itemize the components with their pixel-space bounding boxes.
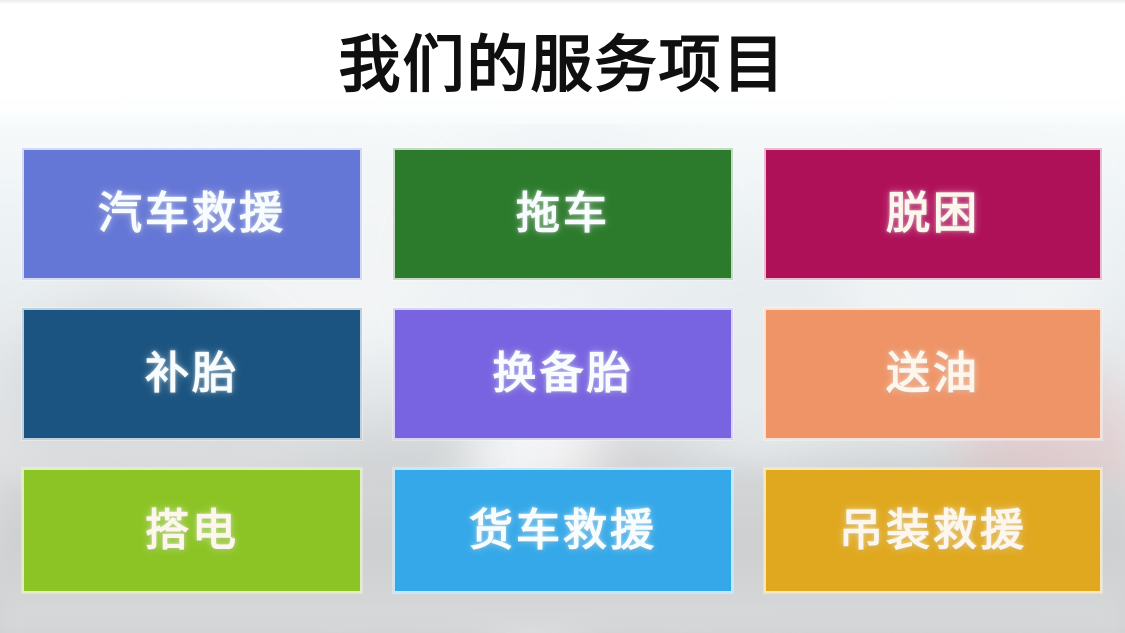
service-tile-label: 补胎 — [145, 352, 239, 396]
poster-header: 我们的服务项目 — [0, 0, 1125, 124]
service-tile-label: 吊装救援 — [839, 509, 1027, 553]
service-tile-label: 脱困 — [886, 192, 980, 236]
service-tile[interactable]: 脱困 — [764, 148, 1102, 280]
top-divider — [0, 0, 1125, 4]
service-tile[interactable]: 补胎 — [22, 308, 362, 440]
service-tile[interactable]: 送油 — [764, 308, 1102, 440]
service-tile-label: 汽车救援 — [98, 192, 286, 236]
service-tile[interactable]: 吊装救援 — [764, 468, 1102, 593]
service-tile-label: 换备胎 — [493, 352, 634, 396]
service-tile[interactable]: 货车救援 — [393, 468, 733, 593]
service-tile-label: 搭电 — [145, 509, 239, 553]
service-tile-label: 货车救援 — [469, 509, 657, 553]
service-tile[interactable]: 换备胎 — [393, 308, 733, 440]
service-tile[interactable]: 拖车 — [393, 148, 733, 280]
service-tile-label: 送油 — [886, 352, 980, 396]
service-tile[interactable]: 搭电 — [22, 468, 362, 593]
service-tile[interactable]: 汽车救援 — [22, 148, 362, 280]
service-poster: 我们的服务项目 汽车救援拖车脱困补胎换备胎送油搭电货车救援吊装救援 — [0, 0, 1125, 633]
service-tile-grid: 汽车救援拖车脱困补胎换备胎送油搭电货车救援吊装救援 — [22, 148, 1102, 598]
page-title: 我们的服务项目 — [338, 35, 786, 97]
service-tile-label: 拖车 — [516, 192, 610, 236]
